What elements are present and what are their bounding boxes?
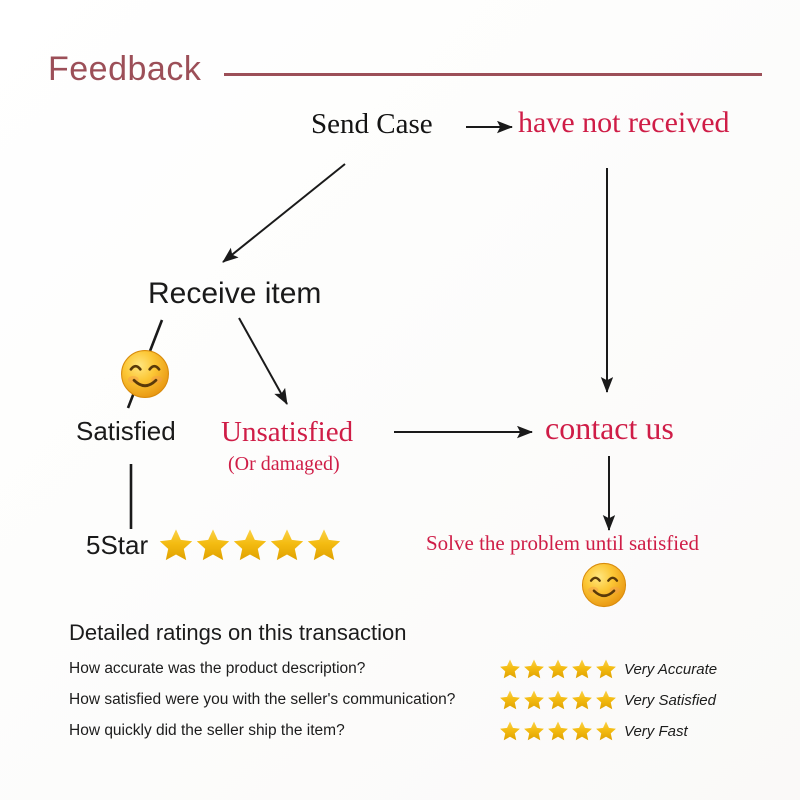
node-satisfied: Satisfied bbox=[76, 418, 176, 444]
star-icon bbox=[523, 689, 545, 711]
star-icon bbox=[571, 658, 593, 680]
node-or-damaged: (Or damaged) bbox=[228, 454, 340, 474]
node-unsatisfied: Unsatisfied bbox=[221, 418, 353, 447]
rating-row: How accurate was the product description… bbox=[69, 658, 769, 680]
star-icon bbox=[547, 689, 569, 711]
rating-stars[interactable] bbox=[499, 658, 624, 680]
star-icon bbox=[523, 658, 545, 680]
star-icon bbox=[571, 720, 593, 742]
rating-question: How accurate was the product description… bbox=[69, 660, 499, 678]
detailed-ratings-title: Detailed ratings on this transaction bbox=[69, 620, 769, 646]
smiling-face-icon bbox=[581, 562, 627, 608]
star-icon bbox=[306, 527, 342, 563]
node-contact-us: contact us bbox=[545, 412, 674, 444]
rating-label: Very Accurate bbox=[624, 661, 717, 678]
star-icon bbox=[232, 527, 268, 563]
detailed-ratings-section: Detailed ratings on this transaction How… bbox=[69, 620, 769, 751]
star-icon bbox=[595, 720, 617, 742]
star-icon bbox=[158, 527, 194, 563]
star-icon bbox=[499, 720, 521, 742]
star-icon bbox=[269, 527, 305, 563]
star-icon bbox=[571, 689, 593, 711]
feedback-infographic: Feedback Send Case have not received Rec… bbox=[0, 0, 800, 800]
star-icon bbox=[595, 658, 617, 680]
star-icon bbox=[547, 720, 569, 742]
star-icon bbox=[499, 658, 521, 680]
detailed-ratings-rows: How accurate was the product description… bbox=[69, 658, 769, 742]
node-have-not-received: have not received bbox=[518, 108, 730, 138]
star-icon bbox=[547, 658, 569, 680]
star-icon bbox=[595, 689, 617, 711]
arrow-send-case-to-receive-item bbox=[223, 164, 345, 262]
rating-label: Very Satisfied bbox=[624, 692, 716, 709]
arrow-receive-item-to-unsatisfied bbox=[239, 318, 287, 404]
node-send-case: Send Case bbox=[311, 110, 433, 139]
star-icon bbox=[195, 527, 231, 563]
rating-stars[interactable] bbox=[499, 689, 624, 711]
rating-row: How quickly did the seller ship the item… bbox=[69, 720, 769, 742]
rating-stars[interactable] bbox=[499, 720, 624, 742]
rating-question: How quickly did the seller ship the item… bbox=[69, 722, 499, 740]
star-icon bbox=[523, 720, 545, 742]
rating-row: How satisfied were you with the seller's… bbox=[69, 689, 769, 711]
five-star-stars bbox=[158, 527, 342, 563]
node-receive-item: Receive item bbox=[148, 279, 321, 309]
five-star-row: 5Star bbox=[86, 527, 342, 563]
smiling-face-icon bbox=[120, 349, 170, 399]
star-icon bbox=[499, 689, 521, 711]
rating-question: How satisfied were you with the seller's… bbox=[69, 691, 499, 709]
rating-label: Very Fast bbox=[624, 723, 688, 740]
node-solve-the-problem: Solve the problem until satisfied bbox=[426, 533, 699, 554]
five-star-label: 5Star bbox=[86, 532, 148, 558]
